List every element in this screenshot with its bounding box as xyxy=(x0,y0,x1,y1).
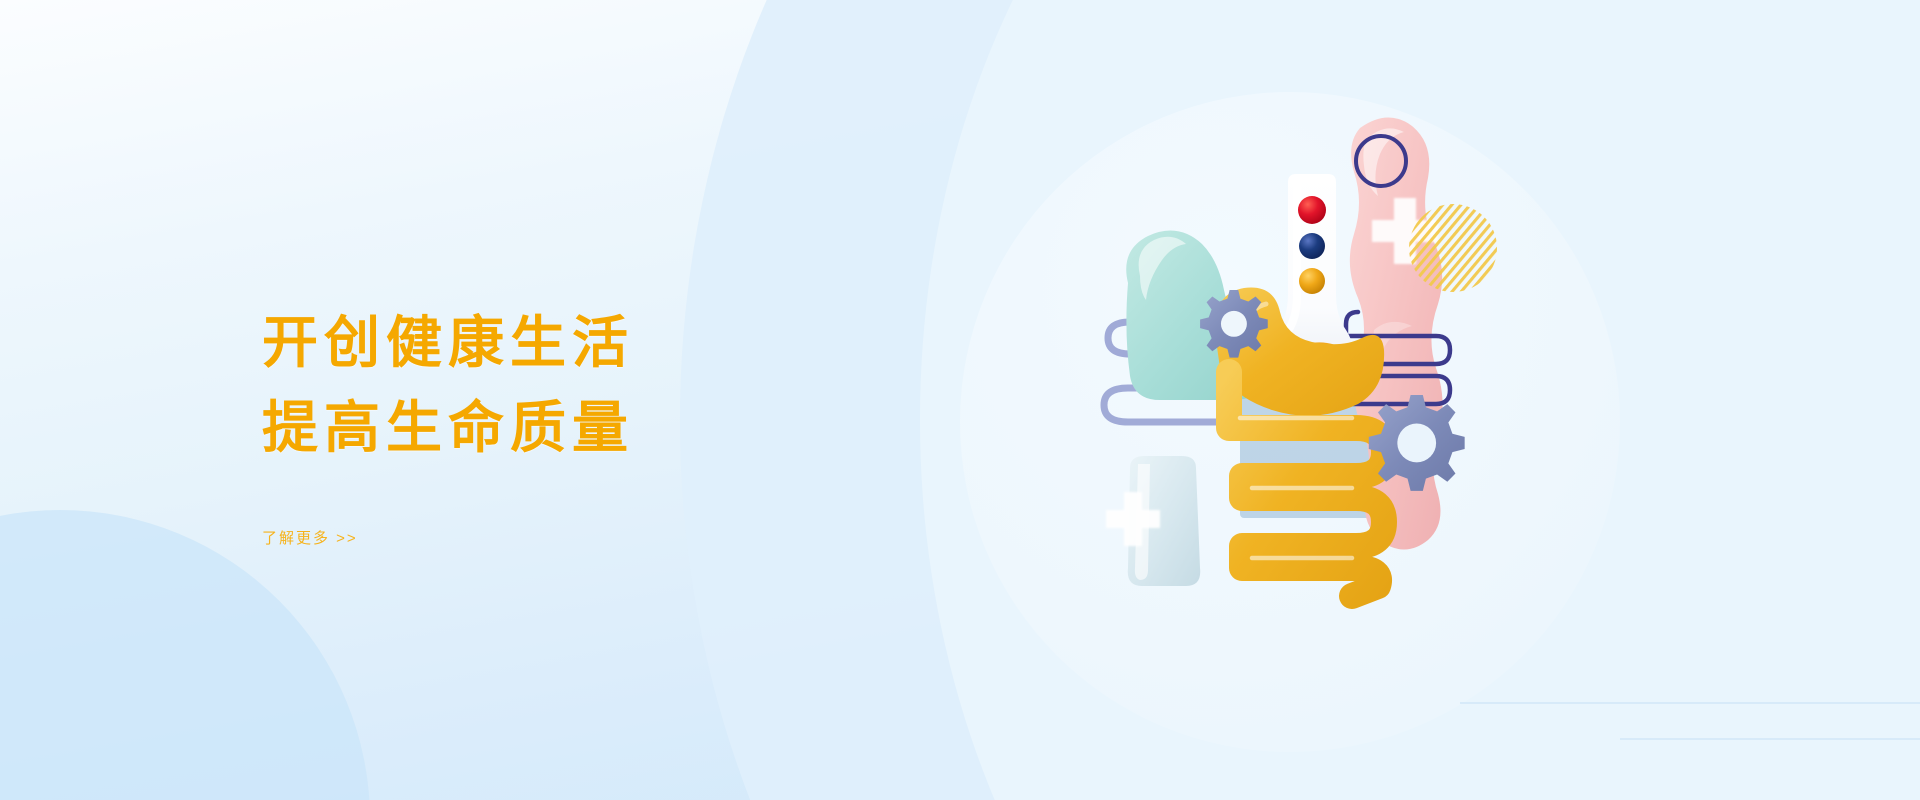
gear-small xyxy=(1200,290,1268,358)
headline-line-1: 开创健康生活 xyxy=(262,300,822,385)
hero-banner: 开创健康生活 提高生命质量 了解更多 >> xyxy=(0,0,1920,800)
background-line-lower xyxy=(1620,738,1920,740)
test-tube-bead-navy xyxy=(1299,233,1325,259)
hatched-circle xyxy=(1409,204,1497,292)
digestive-health-illustration xyxy=(1090,100,1610,720)
gear-large xyxy=(1369,395,1465,491)
hero-copy: 开创健康生活 提高生命质量 了解更多 >> xyxy=(262,300,822,548)
test-tube-bead-red xyxy=(1298,196,1326,224)
headline-line-2: 提高生命质量 xyxy=(262,385,822,470)
test-tube-bead-amber xyxy=(1299,268,1325,294)
background-circle-bottom-left xyxy=(0,510,370,800)
learn-more-link[interactable]: 了解更多 >> xyxy=(262,527,358,548)
